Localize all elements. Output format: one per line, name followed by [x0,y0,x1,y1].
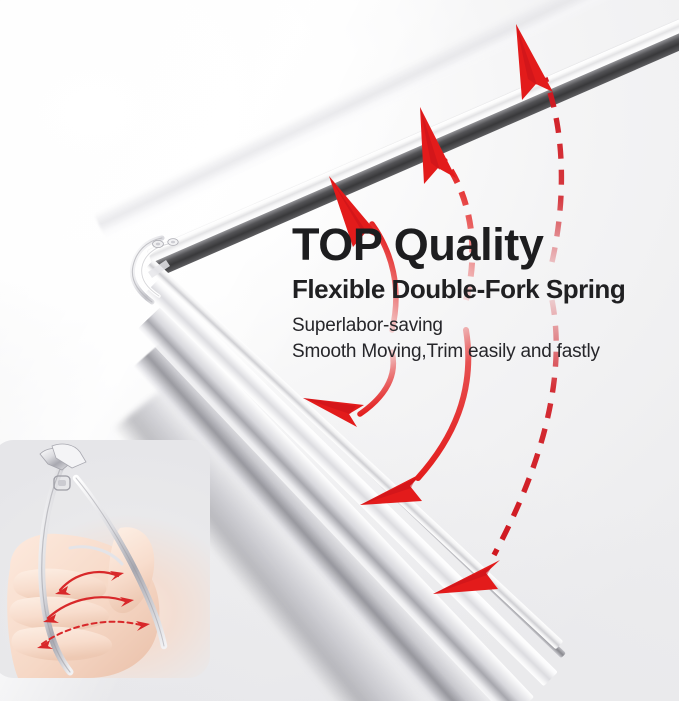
headline-subtitle: Flexible Double-Fork Spring [292,274,662,305]
inset-illustration [0,440,210,678]
inset-usage-photo [0,440,210,678]
product-feature-image: TOP Quality Flexible Double-Fork Spring … [0,0,679,701]
feature-line-1: Superlabor-saving [292,313,662,338]
feature-text-block: TOP Quality Flexible Double-Fork Spring … [292,222,662,364]
headline-title: TOP Quality [292,222,662,268]
feature-line-2: Smooth Moving,Trim easily and fastly [292,339,662,364]
